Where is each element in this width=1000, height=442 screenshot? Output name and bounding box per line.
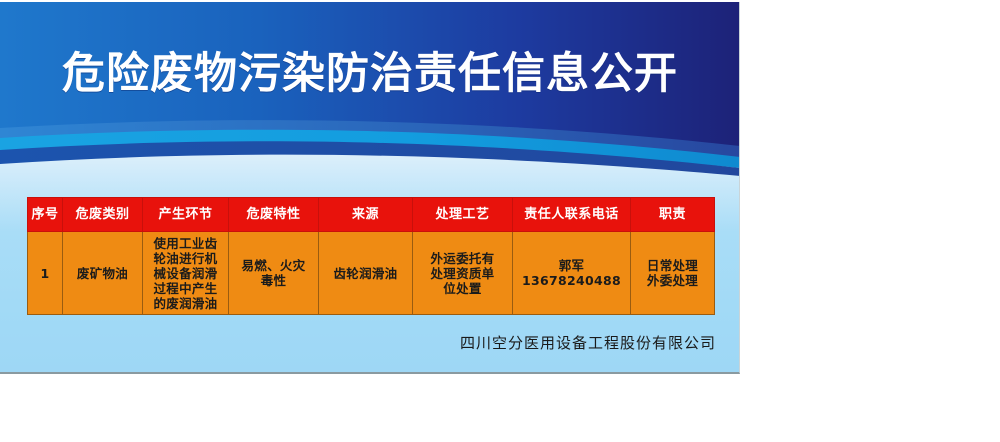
cell-generation-stage: 使用工业齿 轮油进行机 械设备润滑 过程中产生 的废润滑油 — [143, 232, 229, 315]
column-header-stage: 产生环节 — [143, 198, 229, 232]
cell-line: 外运委托有 — [415, 251, 510, 266]
column-header-contact: 责任人联系电话 — [513, 198, 631, 232]
cell-line: 处理资质单 — [415, 266, 510, 281]
cell-contact: 郭军 13678240488 — [513, 232, 631, 315]
table-header-row: 序号 危废类别 产生环节 危废特性 来源 处理工艺 责任人联系电话 职责 — [28, 198, 715, 232]
table-row: 1 废矿物油 使用工业齿 轮油进行机 械设备润滑 过程中产生 的废润滑油 易燃、… — [28, 232, 715, 315]
cell-line: 毒性 — [231, 273, 316, 288]
hazardous-waste-table: 序号 危废类别 产生环节 危废特性 来源 处理工艺 责任人联系电话 职责 1 废… — [27, 197, 715, 315]
cell-line: 的废润滑油 — [145, 296, 226, 311]
column-header-duty: 职责 — [631, 198, 715, 232]
page-title: 危险废物污染防治责任信息公开 — [0, 48, 740, 100]
column-header-hazard: 危废特性 — [229, 198, 319, 232]
cell-line: 轮油进行机 — [145, 251, 226, 266]
cell-line: 日常处理 — [633, 258, 712, 273]
poster-canvas: 危险废物污染防治责任信息公开 序号 危废类别 产生环节 危废特性 来源 处理工艺… — [0, 2, 740, 374]
cell-line: 外委处理 — [633, 273, 712, 288]
cell-line: 位处置 — [415, 281, 510, 296]
company-name: 四川空分医用设备工程股份有限公司 — [0, 332, 716, 353]
header-banner: 危险废物污染防治责任信息公开 — [0, 2, 740, 180]
cell-line: 械设备润滑 — [145, 266, 226, 281]
cell-duty: 日常处理 外委处理 — [631, 232, 715, 315]
cell-source: 齿轮润滑油 — [319, 232, 413, 315]
cell-line: 过程中产生 — [145, 281, 226, 296]
hazardous-waste-table-wrapper: 序号 危废类别 产生环节 危废特性 来源 处理工艺 责任人联系电话 职责 1 废… — [27, 197, 714, 315]
cell-seq: 1 — [28, 232, 63, 315]
cell-hazard-property: 易燃、火灾 毒性 — [229, 232, 319, 315]
cell-treatment-process: 外运委托有 处理资质单 位处置 — [413, 232, 513, 315]
contact-name: 郭军 — [515, 258, 628, 273]
cell-line: 易燃、火灾 — [231, 258, 316, 273]
column-header-seq: 序号 — [28, 198, 63, 232]
cell-category: 废矿物油 — [63, 232, 143, 315]
column-header-source: 来源 — [319, 198, 413, 232]
contact-phone: 13678240488 — [515, 273, 628, 288]
cell-line: 使用工业齿 — [145, 236, 226, 251]
column-header-category: 危废类别 — [63, 198, 143, 232]
column-header-treatment: 处理工艺 — [413, 198, 513, 232]
